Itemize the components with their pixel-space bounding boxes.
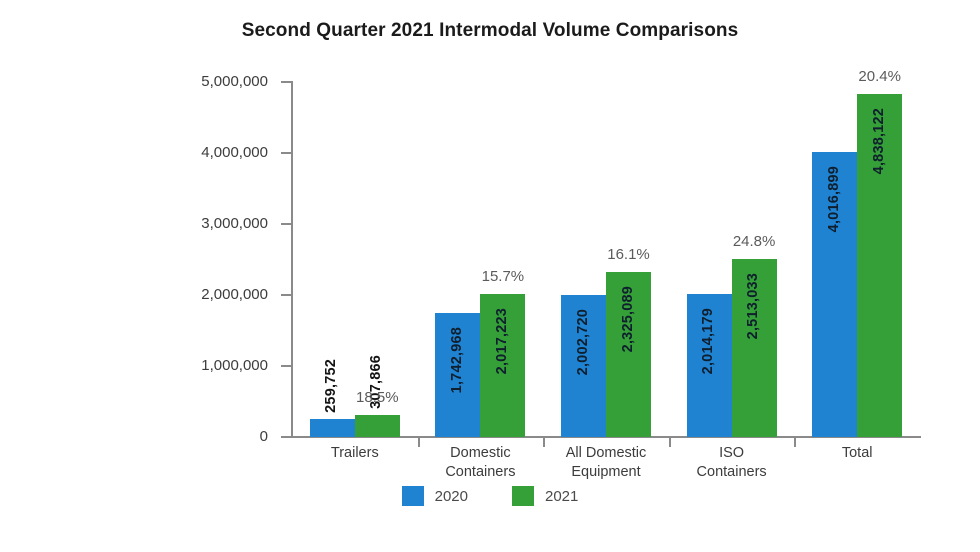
bar-iso-containers-2020[interactable]: 2,014,179 [687,294,732,437]
plot-area: 259,752307,86618.5%1,742,9682,017,22315.… [292,82,920,437]
percent-change-label: 24.8% [733,233,776,250]
bar-all-domestic-equipment-2020[interactable]: 2,002,720 [561,295,606,437]
y-axis-tick [281,294,292,296]
bar-total-2020[interactable]: 4,016,899 [812,152,857,437]
y-axis-tick [281,365,292,367]
bar-value-label: 259,752 [323,359,339,413]
bar-value-label: 2,325,089 [620,286,636,352]
y-axis-tick-label: 4,000,000 [118,144,268,161]
bar-value-label: 2,513,033 [745,273,761,339]
chart-legend: 20202021 [0,486,980,506]
percent-change-label: 15.7% [482,268,525,285]
bar-domestic-containers-2021[interactable]: 2,017,223 [480,294,525,437]
y-axis-tick [281,436,292,438]
percent-change-label: 18.5% [356,389,399,406]
bar-total-2021[interactable]: 4,838,122 [857,94,902,438]
bar-value-label: 2,017,223 [494,308,510,374]
bar-chart: Second Quarter 2021 Intermodal Volume Co… [0,0,980,552]
bar-trailers-2021[interactable]: 307,866 [355,415,400,437]
y-axis-tick [281,81,292,83]
y-axis-tick [281,223,292,225]
y-axis-tick-label: 0 [118,428,268,445]
bar-all-domestic-equipment-2021[interactable]: 2,325,089 [606,272,651,437]
legend-item-2020[interactable]: 2020 [402,486,468,506]
chart-title: Second Quarter 2021 Intermodal Volume Co… [0,20,980,42]
y-axis-tick-label: 1,000,000 [118,357,268,374]
bar-domestic-containers-2020[interactable]: 1,742,968 [435,313,480,437]
bar-value-label: 2,002,720 [575,309,591,375]
bar-iso-containers-2021[interactable]: 2,513,033 [732,259,777,437]
legend-swatch-icon [512,486,534,506]
y-axis-tick-label: 2,000,000 [118,286,268,303]
bar-value-label: 4,016,899 [826,166,842,232]
y-axis-tick-label: 3,000,000 [118,215,268,232]
y-axis-tick-label: 5,000,000 [118,73,268,90]
legend-swatch-icon [402,486,424,506]
bar-value-label: 1,742,968 [449,327,465,393]
percent-change-label: 16.1% [607,246,650,263]
category-label-total: Total [782,444,932,463]
legend-label: 2021 [545,488,578,505]
bar-value-label: 2,014,179 [700,308,716,374]
bar-trailers-2020[interactable]: 259,752 [310,419,355,437]
legend-item-2021[interactable]: 2021 [512,486,578,506]
y-axis-tick [281,152,292,154]
percent-change-label: 20.4% [858,68,901,85]
bar-value-label: 4,838,122 [871,108,887,174]
legend-label: 2020 [435,488,468,505]
